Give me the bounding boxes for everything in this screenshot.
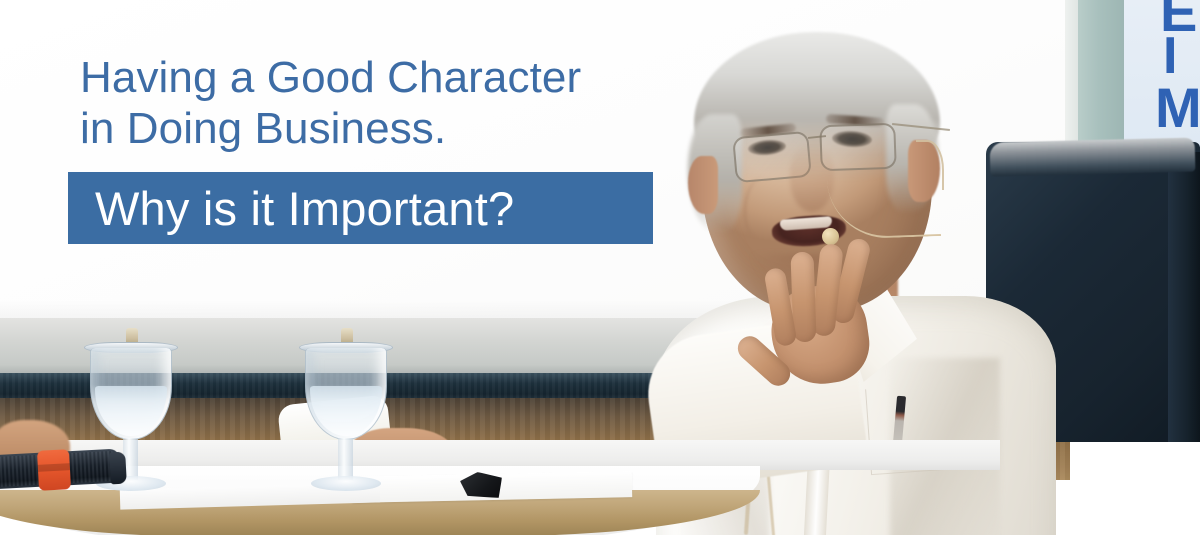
glasses-temple xyxy=(892,123,950,131)
highlight-text: Why is it Important? xyxy=(68,185,514,232)
headline-line-1: Having a Good Character xyxy=(80,52,700,103)
microphone-color-band xyxy=(37,449,71,491)
goblet-stem xyxy=(338,438,353,480)
water-goblet-right xyxy=(305,328,397,498)
poster-letter-m: M xyxy=(1155,80,1200,136)
hero-banner: E I M xyxy=(0,0,1200,535)
gesturing-hand xyxy=(754,238,884,388)
headline-block: Having a Good Character in Doing Busines… xyxy=(80,52,700,155)
chair-side-panel xyxy=(1168,152,1200,442)
headline-line-2: in Doing Business. xyxy=(80,103,700,154)
poster-letter-i: I xyxy=(1163,30,1176,82)
microphone-end-cap xyxy=(109,452,127,485)
ear-left xyxy=(688,156,718,214)
highlight-banner: Why is it Important? xyxy=(68,172,653,244)
goblet-foot xyxy=(311,476,381,491)
